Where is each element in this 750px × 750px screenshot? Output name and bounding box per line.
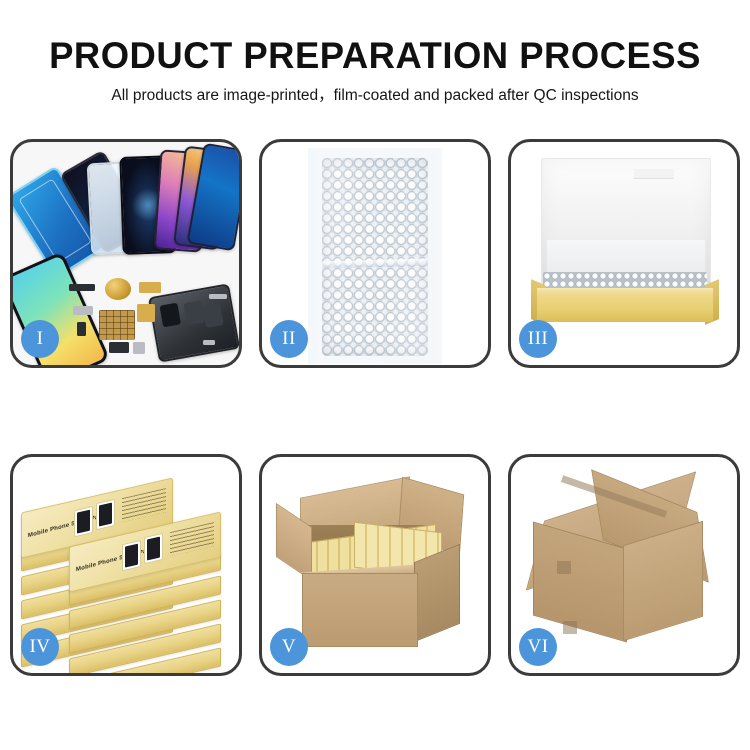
part-tool-tweezer	[209, 294, 227, 299]
page-title: PRODUCT PREPARATION PROCESS	[6, 34, 745, 78]
retail-box-rear-screen-2	[96, 499, 115, 530]
retail-box-front-spec-lines	[170, 522, 214, 556]
part-earpiece	[69, 284, 95, 291]
page-subtitle: All products are image-printed，film-coat…	[0, 85, 750, 107]
carton-side-panel	[414, 544, 460, 643]
step-panel-3[interactable]: III	[508, 139, 740, 368]
step-badge-3: III	[519, 320, 557, 358]
step-panel-1[interactable]: I	[10, 139, 242, 368]
retail-box-rear-screen-1	[74, 506, 93, 537]
step-badge-6: VI	[519, 628, 557, 666]
flat-box-front-panel	[537, 294, 713, 322]
retail-box-front-screen-1	[122, 540, 141, 571]
step-badge-2: II	[270, 320, 308, 358]
step-badge-1: I	[21, 320, 59, 358]
part-speaker-coil	[105, 278, 131, 300]
step-badge-4: IV	[21, 628, 59, 666]
part-screw-set	[203, 340, 215, 345]
sealed-carton-handle-tab-top	[557, 561, 571, 574]
product-preparation-process-infographic: PRODUCT PREPARATION PROCESS All products…	[0, 0, 750, 750]
header: PRODUCT PREPARATION PROCESS All products…	[0, 34, 750, 107]
part-flex-cable-2	[137, 304, 155, 322]
retail-box-rear-spec-lines	[122, 488, 166, 522]
part-battery-connector	[109, 342, 129, 353]
sealed-carton-handle-tab-bottom	[563, 621, 577, 634]
part-flex-cable-1	[139, 282, 161, 293]
carton-front-panel	[302, 573, 418, 647]
retail-box-front-screen-2	[144, 533, 163, 564]
flat-box-lid-tab	[634, 169, 674, 179]
step-badge-5: V	[270, 628, 308, 666]
step-panel-2[interactable]: II	[259, 139, 491, 368]
step-panel-6[interactable]: VI	[508, 454, 740, 676]
part-bracket	[73, 306, 93, 315]
step-panel-4[interactable]: Mobile Phone Spare Parts Mobile Phone Sp…	[10, 454, 242, 676]
step-panel-5[interactable]: V	[259, 454, 491, 676]
part-camera-module	[77, 322, 86, 336]
part-vibrator	[133, 342, 145, 354]
steps-grid: I II	[10, 139, 740, 679]
part-logic-board	[99, 310, 135, 340]
bubble-wrap-sheen	[322, 158, 428, 356]
